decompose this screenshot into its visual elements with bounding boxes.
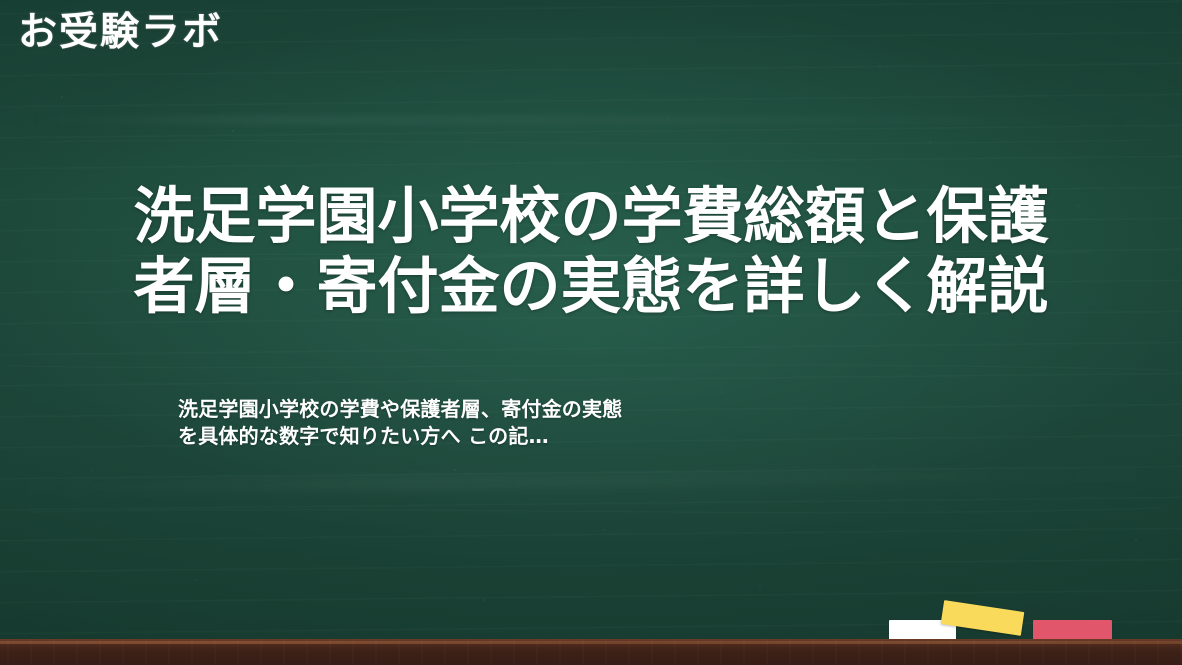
chalk-ledge [0, 639, 1182, 665]
subtitle-line-1: 洗足学園小学校の学費や保護者層、寄付金の実態 [178, 396, 1038, 423]
chalkboard-thumbnail: お受験ラボ 洗足学園小学校の学費総額と保護 者層・寄付金の実態を詳しく解説 洗足… [0, 0, 1182, 665]
title-line-1: 洗足学園小学校の学費総額と保護 [0, 182, 1182, 252]
subtitle-line-2: を具体的な数字で知りたい方へ この記… [178, 423, 1038, 450]
title-line-2: 者層・寄付金の実態を詳しく解説 [0, 252, 1182, 322]
chalk-smudge-upper [24, 115, 1159, 125]
page-subtitle: 洗足学園小学校の学費や保護者層、寄付金の実態 を具体的な数字で知りたい方へ この… [178, 396, 1038, 450]
chalk-smudge-lower [0, 467, 1182, 495]
ledge-wood-grain [0, 639, 1182, 665]
red-chalk-icon [1033, 620, 1112, 640]
page-title: 洗足学園小学校の学費総額と保護 者層・寄付金の実態を詳しく解説 [0, 182, 1182, 322]
site-logo[interactable]: お受験ラボ [18, 11, 223, 56]
ledge-highlight [0, 641, 1182, 644]
